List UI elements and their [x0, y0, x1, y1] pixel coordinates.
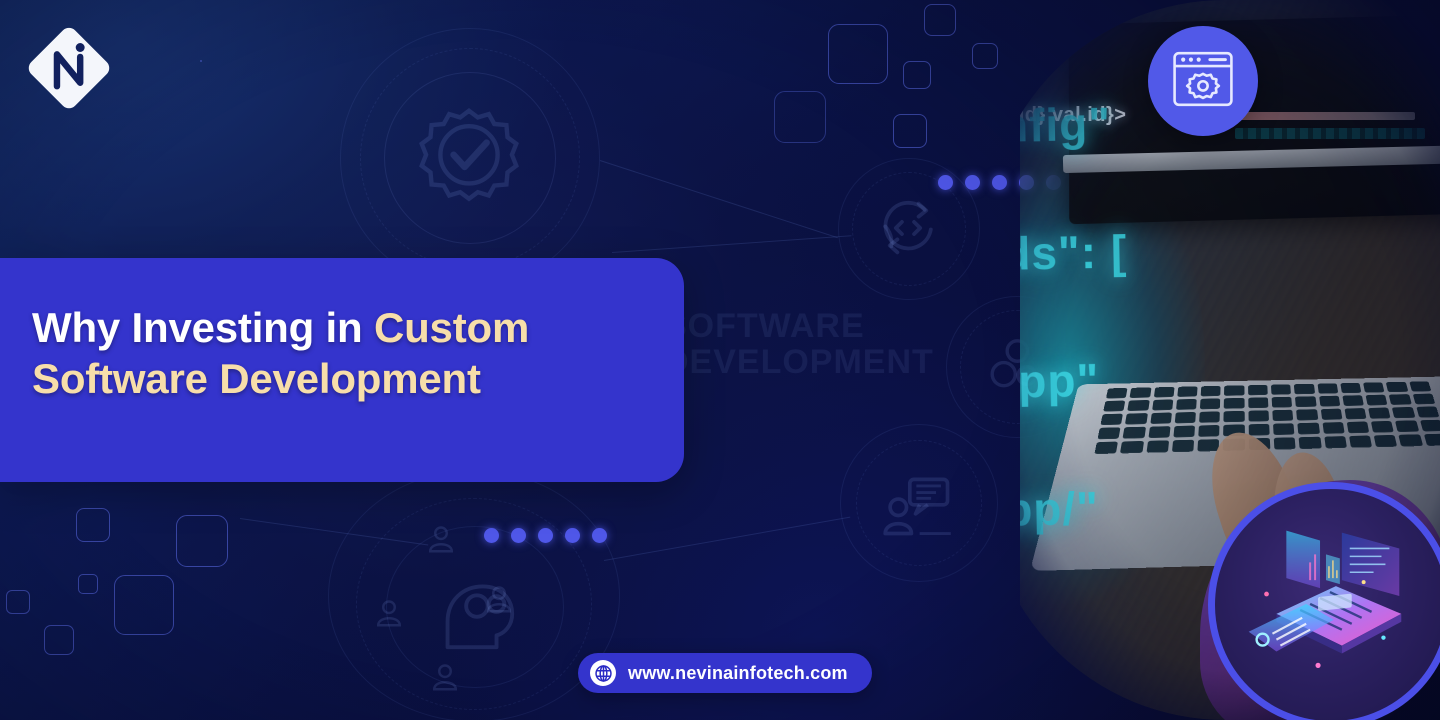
globe-icon [590, 660, 616, 686]
isometric-tech-badge[interactable] [1208, 482, 1440, 720]
headline-line1-highlight: Custom [374, 304, 529, 351]
headline-line1-white: Why Investing in [32, 304, 374, 351]
website-url-text: www.nevinainfotech.com [628, 663, 848, 684]
headline-panel: Why Investing in Custom Software Develop… [0, 258, 684, 482]
page-title: Why Investing in Custom Software Develop… [32, 302, 654, 404]
banner-root: Software Development [0, 0, 1440, 720]
browser-window-gear-icon [1172, 50, 1234, 113]
website-url-badge[interactable]: www.nevinainfotech.com [578, 653, 872, 693]
isometric-tech-illustration-icon [1215, 489, 1440, 720]
browser-window-gear-badge[interactable] [1148, 26, 1258, 136]
nevina-infotech-logo[interactable] [26, 26, 112, 112]
headline-line2-highlight: Software Development [32, 355, 481, 402]
